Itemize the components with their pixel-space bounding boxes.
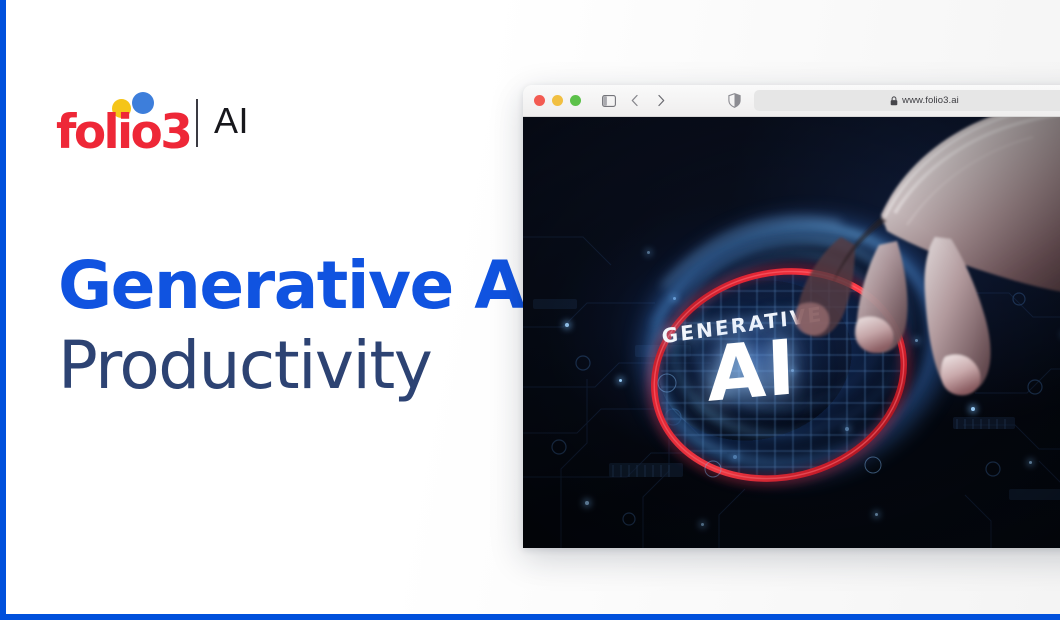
browser-toolbar: www.folio3.ai — [523, 85, 1060, 117]
hero-image: GENERATIVE AI — [523, 117, 1060, 548]
url-display: www.folio3.ai — [890, 95, 959, 106]
sidebar-toggle-icon[interactable] — [597, 90, 620, 112]
brand-wordmark: folio3 — [56, 109, 190, 156]
browser-window-mockup: www.folio3.ai — [523, 85, 1060, 548]
folio3-logo-mark: folio3 — [56, 92, 184, 154]
back-icon[interactable] — [623, 90, 646, 112]
navigation-controls — [597, 90, 672, 112]
window-controls — [534, 95, 581, 106]
page-title: Generative AI Productivity — [58, 246, 498, 406]
lock-icon — [890, 96, 898, 106]
headline-line-2: Productivity — [58, 326, 498, 406]
logo-divider — [196, 99, 198, 147]
headline-line-1: Generative AI — [58, 246, 498, 326]
generative-ai-button[interactable] — [621, 257, 951, 507]
brand-logo-lockup[interactable]: folio3 AI — [56, 92, 249, 154]
url-input[interactable]: www.folio3.ai — [754, 90, 1060, 111]
forward-icon[interactable] — [649, 90, 672, 112]
url-text: www.folio3.ai — [902, 95, 959, 106]
product-label: AI — [214, 103, 249, 143]
maximize-window-button[interactable] — [570, 95, 581, 106]
address-bar-area: www.folio3.ai — [723, 90, 1060, 112]
minimize-window-button[interactable] — [552, 95, 563, 106]
left-content-panel: folio3 AI Generative AI Productivity — [6, 0, 516, 614]
privacy-shield-icon[interactable] — [723, 90, 745, 112]
promo-banner: folio3 AI Generative AI Productivity — [0, 0, 1060, 620]
browser-viewport: GENERATIVE AI — [523, 117, 1060, 548]
close-window-button[interactable] — [534, 95, 545, 106]
